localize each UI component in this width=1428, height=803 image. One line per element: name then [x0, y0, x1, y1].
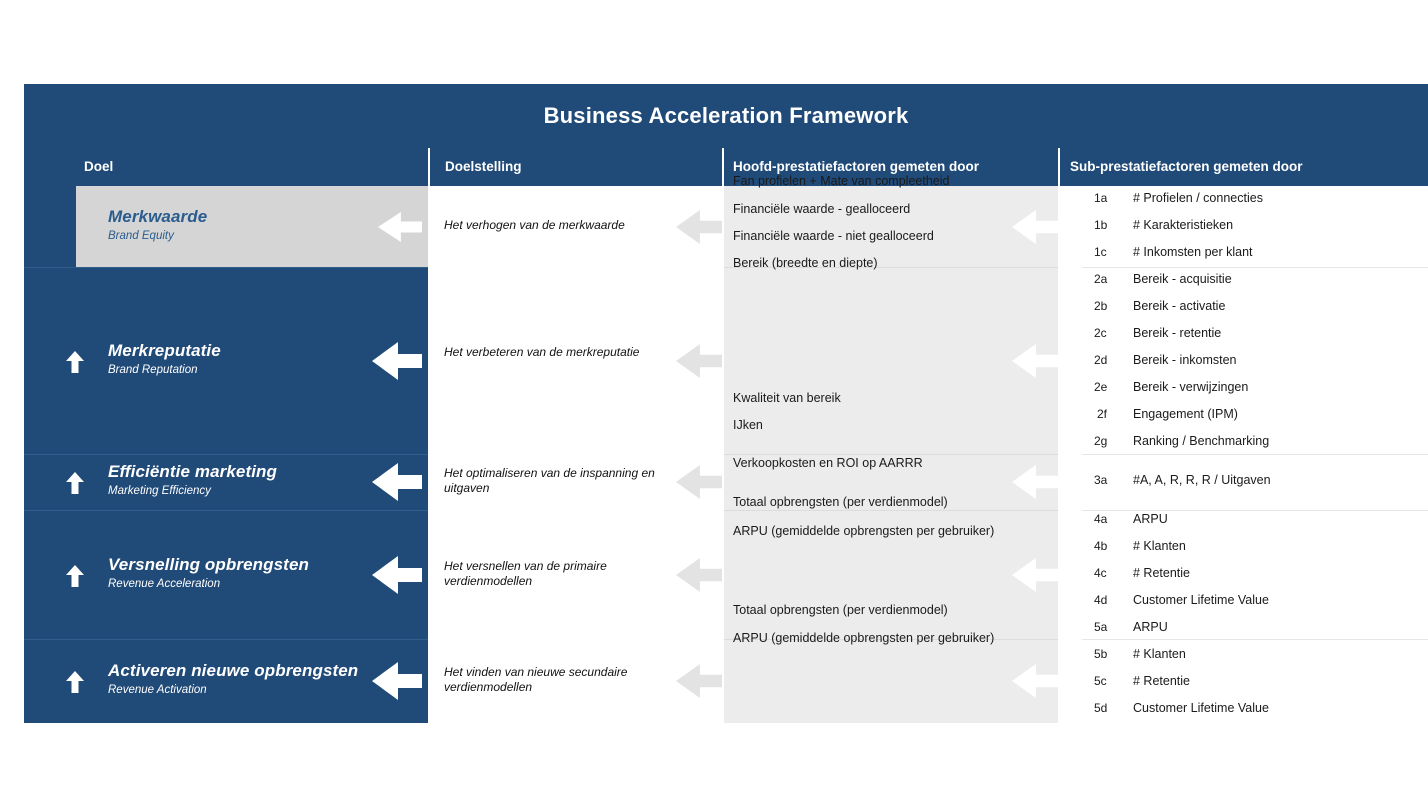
up-arrow-icon: [62, 349, 88, 375]
sub-kpi-code: 3a: [1094, 473, 1124, 487]
main-kpi-item[interactable]: Bereik (breedte en diepte): [733, 256, 878, 270]
goal-name-en: Revenue Acceleration: [108, 578, 309, 590]
main-kpi-item[interactable]: Kwaliteit van bereik: [733, 391, 841, 405]
main-kpi-item[interactable]: ARPU (gemiddelde opbrengsten per gebruik…: [733, 524, 994, 538]
left-arrow-icon: [372, 342, 422, 385]
goal-cell-activeren-nieuwe-opbrengsten[interactable]: Activeren nieuwe opbrengstenRevenue Acti…: [24, 639, 428, 723]
sub-kpi-row[interactable]: 5dCustomer Lifetime Value: [1060, 701, 1428, 715]
goal-name-nl: Versnelling opbrengsten: [108, 555, 309, 575]
objective-text: Het vinden van nieuwe secundaire verdien…: [444, 665, 674, 695]
goal-label-group: Activeren nieuwe opbrengstenRevenue Acti…: [108, 661, 358, 696]
sub-kpi-label: # Profielen / connecties: [1133, 191, 1263, 205]
sub-kpi-row[interactable]: 4dCustomer Lifetime Value: [1060, 593, 1428, 607]
goal-name-en: Brand Equity: [108, 230, 207, 242]
left-arrow-icon: [372, 556, 422, 599]
sub-kpi-code: 2a: [1094, 272, 1124, 286]
sub-kpi-label: # Retentie: [1133, 566, 1190, 580]
sub-kpi-code: 4c: [1094, 566, 1124, 580]
objective-text: Het verhogen van de merkwaarde: [444, 218, 674, 233]
sub-kpi-group-divider: [1082, 454, 1428, 455]
goal-label-group: Versnelling opbrengstenRevenue Accelerat…: [108, 555, 309, 590]
kpi-group-divider: [724, 454, 1058, 455]
column-doel: MerkwaardeBrand EquityMerkreputatieBrand…: [24, 186, 428, 723]
column-sub-prestatiefactoren: 1a# Profielen / connecties1b# Karakteris…: [1060, 186, 1428, 723]
sub-kpi-row[interactable]: 2dBereik - inkomsten: [1060, 353, 1428, 367]
sub-kpi-row[interactable]: 2aBereik - acquisitie: [1060, 272, 1428, 286]
goal-name-en: Marketing Efficiency: [108, 485, 277, 497]
main-kpi-group-merkwaarde: [724, 186, 1058, 267]
sub-kpi-label: # Karakteristieken: [1133, 218, 1233, 232]
goal-divider: [24, 454, 428, 455]
left-arrow-icon: [676, 664, 722, 703]
sub-kpi-code: 5d: [1094, 701, 1124, 715]
goal-label-group: MerkwaardeBrand Equity: [108, 207, 207, 242]
sub-kpi-code: 2d: [1094, 353, 1124, 367]
main-kpi-item[interactable]: Totaal opbrengsten (per verdienmodel): [733, 495, 948, 509]
goal-divider: [24, 510, 428, 511]
sub-kpi-code: 2b: [1094, 299, 1124, 313]
main-kpi-item[interactable]: Financiële waarde - gealloceerd: [733, 202, 910, 216]
main-kpi-item[interactable]: ARPU (gemiddelde opbrengsten per gebruik…: [733, 631, 994, 645]
sub-kpi-code: 4d: [1094, 593, 1124, 607]
sub-kpi-label: Bereik - verwijzingen: [1133, 380, 1248, 394]
up-arrow-icon: [62, 470, 88, 496]
sub-kpi-label: Bereik - inkomsten: [1133, 353, 1237, 367]
column-header-doel-label: Doel: [84, 148, 113, 186]
sub-kpi-row[interactable]: 2eBereik - verwijzingen: [1060, 380, 1428, 394]
main-kpi-item[interactable]: Financiële waarde - niet gealloceerd: [733, 229, 934, 243]
sub-kpi-group-divider: [1082, 639, 1428, 640]
objective-text: Het verbeteren van de merkreputatie: [444, 345, 674, 360]
goal-cell-versnelling-opbrengsten[interactable]: Versnelling opbrengstenRevenue Accelerat…: [24, 510, 428, 639]
sub-kpi-code: 2f: [1097, 407, 1127, 421]
left-arrow-icon: [1012, 558, 1058, 597]
left-arrow-icon: [1012, 210, 1058, 249]
goal-label-group: MerkreputatieBrand Reputation: [108, 341, 221, 376]
sub-kpi-label: #A, A, R, R, R / Uitgaven: [1133, 473, 1271, 487]
goal-name-en: Brand Reputation: [108, 364, 221, 376]
sub-kpi-label: # Klanten: [1133, 539, 1186, 553]
goal-cell-merkwaarde[interactable]: MerkwaardeBrand Equity: [76, 186, 428, 267]
sub-kpi-code: 4a: [1094, 512, 1124, 526]
sub-kpi-label: ARPU: [1133, 512, 1168, 526]
sub-kpi-code: 5c: [1094, 674, 1124, 688]
goal-label-group: Efficiëntie marketingMarketing Efficienc…: [108, 462, 277, 497]
column-header-sub: Sub-prestatiefactoren gemeten door: [1060, 148, 1428, 186]
kpi-group-divider: [724, 510, 1058, 511]
column-header-doelstelling-label: Doelstelling: [445, 148, 522, 186]
up-arrow-icon: [62, 563, 88, 589]
sub-kpi-label: # Inkomsten per klant: [1133, 245, 1253, 259]
framework-title-bar: Business Acceleration Framework: [24, 84, 1428, 148]
main-kpi-group-activeren-nieuwe-opbrengsten: [724, 639, 1058, 723]
column-header-doelstelling: Doelstelling: [430, 148, 722, 186]
left-arrow-icon: [676, 558, 722, 597]
objective-text: Het optimaliseren van de inspanning en u…: [444, 466, 674, 496]
sub-kpi-code: 2e: [1094, 380, 1124, 394]
sub-kpi-code: 1a: [1094, 191, 1124, 205]
main-kpi-item[interactable]: Fan profielen + Mate van compleetheid: [733, 174, 949, 188]
sub-kpi-row[interactable]: 4b# Klanten: [1060, 539, 1428, 553]
goal-name-nl: Activeren nieuwe opbrengsten: [108, 661, 358, 681]
main-kpi-item[interactable]: IJken: [733, 418, 763, 432]
sub-kpi-row[interactable]: 5c# Retentie: [1060, 674, 1428, 688]
sub-kpi-row[interactable]: 1c# Inkomsten per klant: [1060, 245, 1428, 259]
framework-body: MerkwaardeBrand EquityMerkreputatieBrand…: [24, 186, 1428, 723]
left-arrow-icon: [372, 662, 422, 705]
goal-divider: [24, 639, 428, 640]
column-header-row: Doel Doelstelling Hoofd-prestatiefactore…: [24, 148, 1428, 186]
framework-board: Business Acceleration Framework Doel Doe…: [24, 84, 1428, 723]
sub-kpi-label: Bereik - activatie: [1133, 299, 1225, 313]
left-arrow-icon: [676, 344, 722, 383]
column-header-doel: Doel: [24, 148, 428, 186]
sub-kpi-code: 1c: [1094, 245, 1124, 259]
left-arrow-icon: [676, 210, 722, 249]
goal-cell-merkreputatie[interactable]: MerkreputatieBrand Reputation: [24, 267, 428, 454]
sub-kpi-code: 1b: [1094, 218, 1124, 232]
left-arrow-icon: [378, 212, 422, 247]
sub-kpi-row[interactable]: 2bBereik - activatie: [1060, 299, 1428, 313]
column-doelstelling: Het verhogen van de merkwaardeHet verbet…: [430, 186, 722, 723]
sub-kpi-label: ARPU: [1133, 620, 1168, 634]
sub-kpi-code: 5b: [1094, 647, 1124, 661]
sub-kpi-row[interactable]: 2gRanking / Benchmarking: [1060, 434, 1428, 448]
sub-kpi-label: # Klanten: [1133, 647, 1186, 661]
sub-kpi-row[interactable]: 5b# Klanten: [1060, 647, 1428, 661]
sub-kpi-group-divider: [1082, 267, 1428, 268]
sub-kpi-code: 2g: [1094, 434, 1124, 448]
up-arrow-icon: [62, 669, 88, 695]
sub-kpi-row[interactable]: 2cBereik - retentie: [1060, 326, 1428, 340]
sub-kpi-group-divider: [1082, 510, 1428, 511]
sub-kpi-label: Customer Lifetime Value: [1133, 593, 1269, 607]
sub-kpi-label: Ranking / Benchmarking: [1133, 434, 1269, 448]
sub-kpi-label: Engagement (IPM): [1133, 407, 1238, 421]
sub-kpi-label: Bereik - retentie: [1133, 326, 1221, 340]
column-header-sub-label: Sub-prestatiefactoren gemeten door: [1070, 148, 1303, 186]
goal-name-en: Revenue Activation: [108, 684, 358, 696]
sub-kpi-row[interactable]: 3a#A, A, R, R, R / Uitgaven: [1060, 473, 1428, 487]
sub-kpi-row[interactable]: 1b# Karakteristieken: [1060, 218, 1428, 232]
main-kpi-item[interactable]: Verkoopkosten en ROI op AARRR: [733, 456, 923, 470]
goal-name-nl: Merkwaarde: [108, 207, 207, 227]
objective-text: Het versnellen van de primaire verdienmo…: [444, 559, 674, 589]
sub-kpi-label: # Retentie: [1133, 674, 1190, 688]
left-arrow-icon: [1012, 664, 1058, 703]
sub-kpi-code: 4b: [1094, 539, 1124, 553]
framework-canvas: Business Acceleration Framework Doel Doe…: [0, 0, 1428, 803]
column-hoofd-prestatiefactoren: Fan profielen + Mate van compleetheidFin…: [724, 186, 1058, 723]
goal-name-nl: Efficiëntie marketing: [108, 462, 277, 482]
sub-kpi-row[interactable]: 1a# Profielen / connecties: [1060, 191, 1428, 205]
sub-kpi-row[interactable]: 5aARPU: [1060, 620, 1428, 634]
sub-kpi-row[interactable]: 4c# Retentie: [1060, 566, 1428, 580]
sub-kpi-code: 2c: [1094, 326, 1124, 340]
left-arrow-icon: [1012, 344, 1058, 383]
main-kpi-group-merkreputatie: [724, 267, 1058, 454]
sub-kpi-code: 5a: [1094, 620, 1124, 634]
left-arrow-icon: [676, 465, 722, 504]
page-title: Business Acceleration Framework: [24, 84, 1428, 148]
goal-cell-efficientie-marketing[interactable]: Efficiëntie marketingMarketing Efficienc…: [24, 454, 428, 510]
sub-kpi-label: Bereik - acquisitie: [1133, 272, 1232, 286]
goal-name-nl: Merkreputatie: [108, 341, 221, 361]
goal-divider: [24, 267, 428, 268]
sub-kpi-row[interactable]: 2fEngagement (IPM): [1060, 407, 1428, 421]
sub-kpi-label: Customer Lifetime Value: [1133, 701, 1269, 715]
main-kpi-item[interactable]: Totaal opbrengsten (per verdienmodel): [733, 603, 948, 617]
left-arrow-icon: [1012, 465, 1058, 504]
left-arrow-icon: [372, 463, 422, 506]
sub-kpi-row[interactable]: 4aARPU: [1060, 512, 1428, 526]
